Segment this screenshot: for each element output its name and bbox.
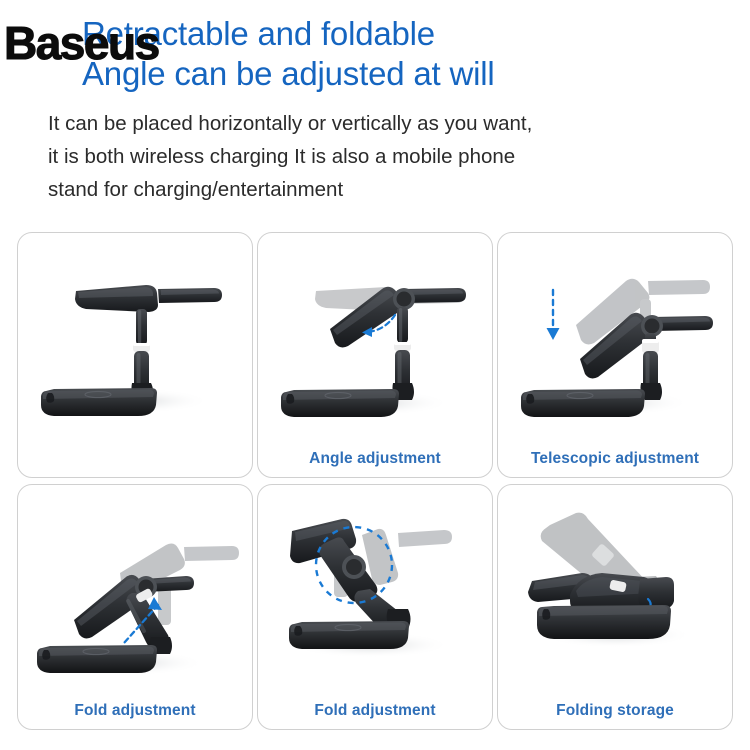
product-illustration-fold-2	[258, 485, 492, 685]
feature-card-angle[interactable]: Angle adjustment	[257, 232, 493, 478]
description-line-1: It can be placed horizontally or vertica…	[48, 107, 738, 140]
feature-caption-telescopic: Telescopic adjustment	[498, 450, 732, 468]
baseus-logo-watermark: Baseus	[4, 18, 159, 68]
product-illustration-storage	[498, 485, 732, 685]
description-paragraph: It can be placed horizontally or vertica…	[0, 94, 738, 206]
product-illustration-angle	[258, 233, 492, 433]
product-illustration-extended	[18, 233, 252, 433]
product-illustration-telescopic	[498, 233, 732, 433]
feature-card-extended[interactable]	[17, 232, 253, 478]
feature-caption-storage: Folding storage	[498, 702, 732, 720]
product-illustration-fold-1	[18, 485, 252, 685]
description-line-2: it is both wireless charging It is also …	[48, 140, 738, 173]
feature-caption-fold-2: Fold adjustment	[258, 702, 492, 720]
telescopic-arrow-icon	[547, 290, 560, 340]
feature-card-fold-1[interactable]: Fold adjustment	[17, 484, 253, 730]
feature-card-storage[interactable]: Folding storage	[497, 484, 733, 730]
feature-caption-fold-1: Fold adjustment	[18, 702, 252, 720]
feature-card-telescopic[interactable]: Telescopic adjustment	[497, 232, 733, 478]
feature-caption-angle: Angle adjustment	[258, 450, 492, 468]
feature-card-fold-2[interactable]: Fold adjustment	[257, 484, 493, 730]
product-feature-grid: Angle adjustment	[17, 232, 733, 730]
description-line-3: stand for charging/entertainment	[48, 173, 738, 206]
